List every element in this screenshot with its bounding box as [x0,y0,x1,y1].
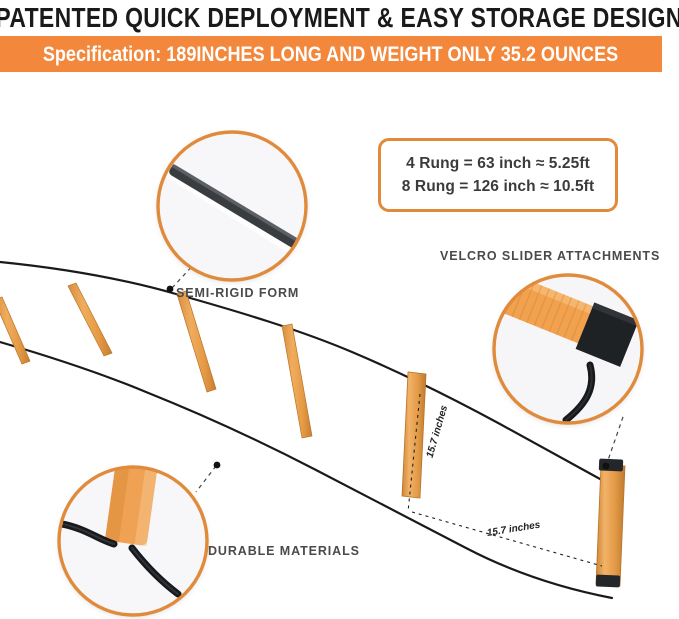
infographic-page: PATENTED QUICK DEPLOYMENT & EASY STORAGE… [0,0,679,619]
callout-label-durable: DURABLE MATERIALS [208,544,360,558]
product-illustration [0,0,679,619]
rung-conversion-box: 4 Rung = 63 inch ≈ 5.25ft 8 Rung = 126 i… [378,138,618,212]
callout-label-semi-rigid: SEMI-RIGID FORM [176,286,299,300]
anchor-dot-velcro [602,462,609,469]
rung-line-8: 8 Rung = 126 inch ≈ 10.5ft [402,178,594,196]
callout-label-velcro: VELCRO SLIDER ATTACHMENTS [440,249,660,263]
anchor-dot-durable [214,462,221,469]
callout-photo-durable [59,449,207,615]
rung-line-4: 4 Rung = 63 inch ≈ 5.25ft [406,155,590,173]
velcro-end-top [599,458,624,471]
velcro-end-bottom [596,574,621,587]
callout-photo-velcro [478,263,642,423]
anchor-dot-semi-rigid [167,286,174,293]
